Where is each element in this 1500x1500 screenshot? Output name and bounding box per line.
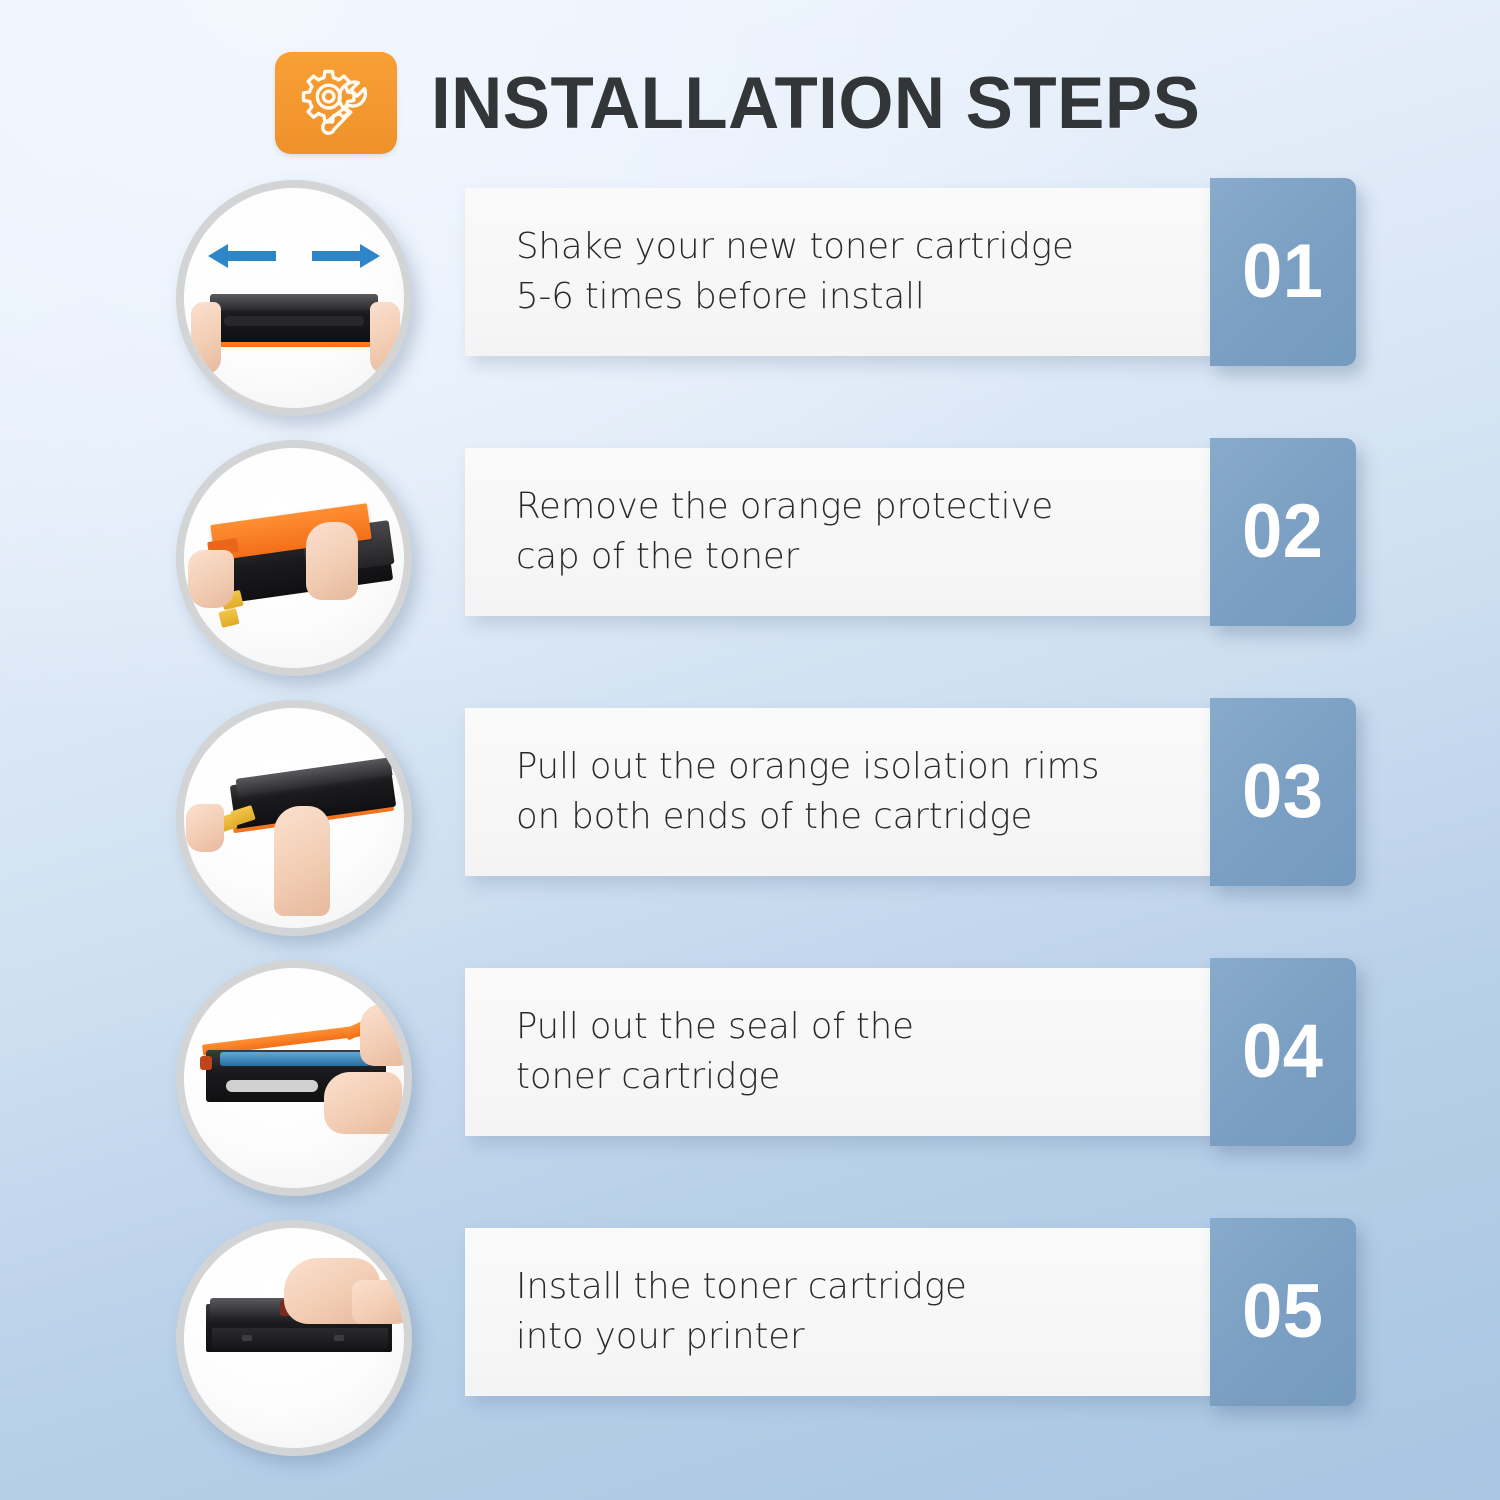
step-number: 01	[1242, 234, 1323, 310]
step-number: 04	[1242, 1014, 1323, 1090]
step-text: Install the toner cartridge into your pr…	[516, 1262, 967, 1363]
step-row: Pull out the seal of the toner cartridge…	[0, 958, 1500, 1218]
step-image-3	[176, 700, 412, 936]
gear-wrench-icon	[275, 52, 397, 154]
step-number-badge: 03	[1210, 698, 1356, 886]
step-row: Install the toner cartridge into your pr…	[0, 1218, 1500, 1478]
installation-steps-infographic: INSTALLATION STEPS	[0, 0, 1500, 1500]
step-number: 03	[1242, 754, 1323, 830]
step-text: Pull out the seal of the toner cartridge	[516, 1002, 914, 1103]
arrow-left-icon	[208, 242, 276, 270]
step-card: Pull out the orange isolation rims on bo…	[465, 708, 1213, 876]
step-row: Pull out the orange isolation rims on bo…	[0, 698, 1500, 958]
step-card: Pull out the seal of the toner cartridge	[465, 968, 1213, 1136]
page-title: INSTALLATION STEPS	[431, 67, 1200, 140]
step-number: 05	[1242, 1274, 1323, 1350]
step-row: Remove the orange protective cap of the …	[0, 438, 1500, 698]
step-number-badge: 01	[1210, 178, 1356, 366]
step-number-badge: 05	[1210, 1218, 1356, 1406]
header: INSTALLATION STEPS	[0, 48, 1500, 158]
step-card: Install the toner cartridge into your pr…	[465, 1228, 1213, 1396]
steps-list: Shake your new toner cartridge 5-6 times…	[0, 178, 1500, 1478]
step-image-2	[176, 440, 412, 676]
step-image-5	[176, 1220, 412, 1456]
step-card: Remove the orange protective cap of the …	[465, 448, 1213, 616]
step-text: Shake your new toner cartridge 5-6 times…	[516, 222, 1074, 323]
step-card: Shake your new toner cartridge 5-6 times…	[465, 188, 1213, 356]
step-number: 02	[1242, 494, 1323, 570]
step-image-1	[176, 180, 412, 416]
step-number-badge: 02	[1210, 438, 1356, 626]
step-number-badge: 04	[1210, 958, 1356, 1146]
step-text: Remove the orange protective cap of the …	[516, 482, 1053, 583]
arrow-right-icon	[312, 242, 380, 270]
step-image-4	[176, 960, 412, 1196]
step-row: Shake your new toner cartridge 5-6 times…	[0, 178, 1500, 438]
step-text: Pull out the orange isolation rims on bo…	[516, 742, 1099, 843]
